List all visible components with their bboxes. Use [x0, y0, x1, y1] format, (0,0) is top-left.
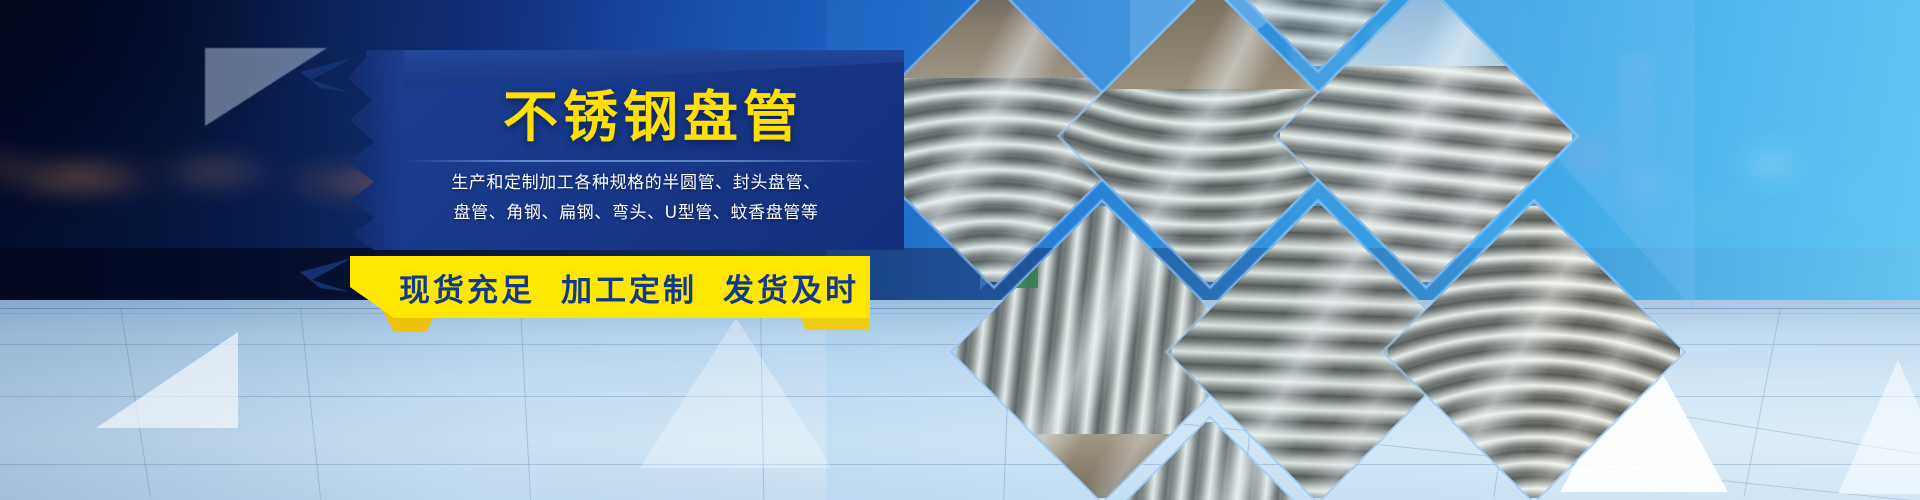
- subtitle-line-1: 生产和定制加工各种规格的半圆管、封头盘管、: [396, 168, 876, 198]
- subtitle-line-2: 盘管、角钢、扁钢、弯头、U型管、蚊香盘管等: [396, 198, 876, 228]
- page-title: 不锈钢盘管: [438, 88, 868, 147]
- panel-subtitle: 生产和定制加工各种规格的半圆管、封头盘管、 盘管、角钢、扁钢、弯头、U型管、蚊香…: [396, 168, 876, 228]
- skyscraper-silhouette-3: [1620, 54, 1654, 250]
- translucent-triangle-left: [205, 48, 327, 126]
- feature-ribbon: 现货充足 加工定制 发货及时: [350, 256, 870, 332]
- translucent-triangle-far-right: [1838, 360, 1920, 494]
- panel-divider-line: [404, 160, 874, 162]
- translucent-triangle-center-bottom: [640, 318, 832, 468]
- feature-item-2: 加工定制: [561, 265, 697, 310]
- product-gallery: [826, 0, 1526, 500]
- feature-item-1: 现货充足: [399, 265, 535, 310]
- promo-banner: 不锈钢盘管 生产和定制加工各种规格的半圆管、封头盘管、 盘管、角钢、扁钢、弯头、…: [0, 0, 1920, 500]
- feature-item-3: 发货及时: [723, 265, 859, 310]
- ribbon-text-group: 现货充足 加工定制 发货及时: [394, 256, 864, 318]
- translucent-triangle-left-lower: [96, 332, 238, 428]
